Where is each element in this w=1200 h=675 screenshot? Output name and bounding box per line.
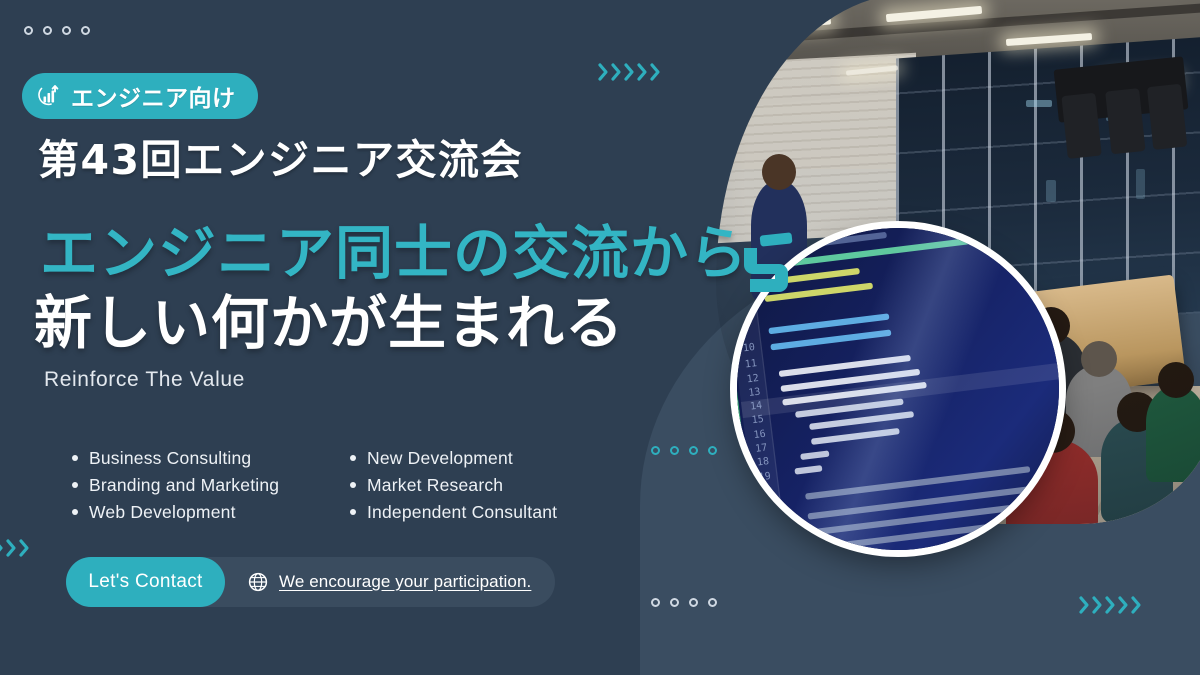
dots-mid-teal [651, 446, 717, 455]
list-item: Independent Consultant [350, 502, 628, 529]
chevrons-left-edge [0, 538, 31, 558]
ring-dot-icon [62, 26, 71, 35]
list-item: Market Research [350, 475, 628, 502]
dots-bottom [651, 598, 717, 607]
ring-dot-icon [670, 446, 679, 455]
chevron-right-icon [649, 62, 662, 82]
ring-dot-icon [43, 26, 52, 35]
event-title: 第43回エンジニア交流会 [38, 126, 523, 186]
list-item-label: Business Consulting [89, 448, 251, 469]
chart-up-arrow-icon [38, 84, 62, 108]
list-item: Business Consulting [72, 448, 350, 475]
chevrons-top [597, 62, 662, 82]
badge-label: エンジニア向け [71, 79, 236, 113]
list-item-label: Market Research [367, 475, 503, 496]
chevrons-bottom-right [1078, 595, 1143, 615]
cta-bar: Let's Contact We encourage your particip… [66, 557, 555, 607]
list-item-label: Web Development [89, 502, 236, 523]
bullet-dot-icon [350, 482, 356, 488]
list-item-label: Branding and Marketing [89, 475, 279, 496]
target-audience-badge[interactable]: エンジニア向け [22, 73, 258, 119]
chevron-right-icon [1117, 595, 1130, 615]
list-item: Branding and Marketing [72, 475, 350, 502]
chevron-right-icon [1130, 595, 1143, 615]
ring-dot-icon [24, 26, 33, 35]
contact-button[interactable]: Let's Contact [66, 557, 225, 607]
bullet-dot-icon [72, 482, 78, 488]
services-list: Business Consulting Branding and Marketi… [72, 448, 628, 529]
ring-dot-icon [651, 598, 660, 607]
ring-dot-icon [670, 598, 679, 607]
flyer-canvas: 9 10 11 12 13 14 15 16 17 18 19 20 21 22… [0, 0, 1200, 675]
headline-line-1: エンジニア同士の交流から [40, 224, 748, 282]
ring-dot-icon [708, 598, 717, 607]
chevron-right-icon [5, 538, 18, 558]
chevron-right-icon [636, 62, 649, 82]
chevron-right-icon [1104, 595, 1117, 615]
chevron-right-icon [610, 62, 623, 82]
list-item-label: New Development [367, 448, 513, 469]
ring-dot-icon [708, 446, 717, 455]
services-column-left: Business Consulting Branding and Marketi… [72, 448, 350, 529]
services-column-right: New Development Market Research Independ… [350, 448, 628, 529]
list-item: Web Development [72, 502, 350, 529]
bullet-dot-icon [72, 509, 78, 515]
list-item-label: Independent Consultant [367, 502, 557, 523]
bullet-dot-icon [350, 455, 356, 461]
dots-top-left [24, 26, 90, 35]
bullet-dot-icon [72, 455, 78, 461]
chevron-right-icon [597, 62, 610, 82]
ring-dot-icon [81, 26, 90, 35]
ring-dot-icon [651, 446, 660, 455]
brand-logo-mark-icon [736, 232, 794, 292]
chevron-right-icon [18, 538, 31, 558]
chevron-right-icon [1078, 595, 1091, 615]
chevron-right-icon [623, 62, 636, 82]
ring-dot-icon [689, 598, 698, 607]
headline-line-2: 新しい何かが生まれる [34, 294, 624, 352]
participation-link-group[interactable]: We encourage your participation. [248, 572, 531, 592]
globe-icon [248, 572, 268, 592]
ring-dot-icon [689, 446, 698, 455]
participation-link[interactable]: We encourage your participation. [279, 572, 531, 592]
bullet-dot-icon [350, 509, 356, 515]
list-item: New Development [350, 448, 628, 475]
subtitle-english: Reinforce The Value [44, 368, 245, 392]
chevron-right-icon [1091, 595, 1104, 615]
